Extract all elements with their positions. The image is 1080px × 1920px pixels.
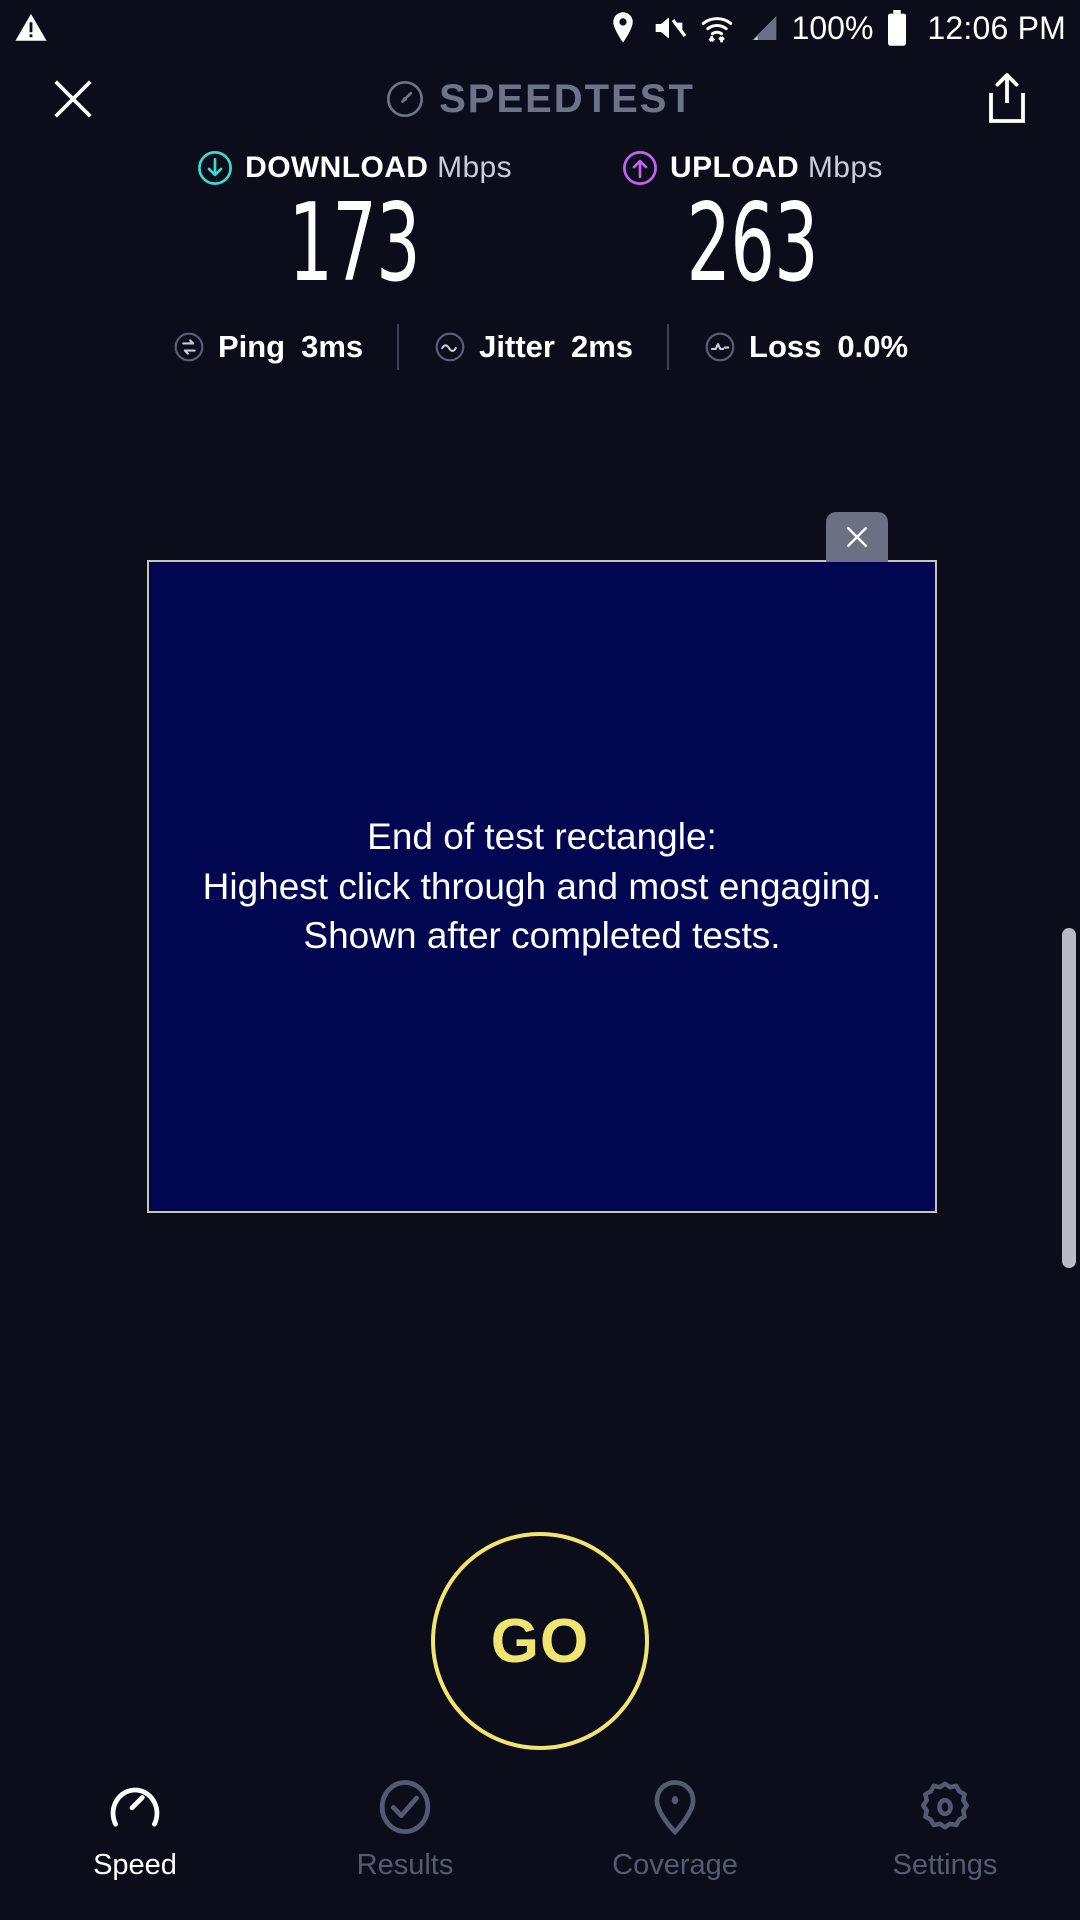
clock-label: 12:06 PM xyxy=(927,10,1066,47)
upload-label: UPLOAD Mbps xyxy=(670,151,883,185)
map-pin-icon xyxy=(647,1779,703,1835)
nav-item-coverage[interactable]: Coverage xyxy=(540,1779,810,1882)
nav-item-settings[interactable]: Settings xyxy=(810,1779,1080,1882)
loss-icon xyxy=(703,330,737,364)
battery-percent-label: 100% xyxy=(792,10,874,47)
download-label: DOWNLOAD Mbps xyxy=(245,151,512,185)
status-bar-left xyxy=(14,11,48,45)
download-unit: Mbps xyxy=(437,151,512,184)
share-icon xyxy=(983,73,1031,125)
download-result: DOWNLOAD Mbps 173 xyxy=(197,150,512,298)
upload-label-text: UPLOAD xyxy=(670,151,799,184)
bottom-navigation: Speed Results Coverage xyxy=(0,1765,1080,1920)
location-pin-icon xyxy=(608,11,638,45)
ad-close-button[interactable] xyxy=(826,512,888,562)
ad-container[interactable]: End of test rectangle: Highest click thr… xyxy=(147,560,937,1213)
metric-ping: Ping 3ms xyxy=(138,329,397,365)
close-button[interactable] xyxy=(40,66,106,132)
check-circle-icon xyxy=(377,1779,433,1835)
ad-line-3: Shown after completed tests. xyxy=(203,911,882,961)
warning-triangle-icon xyxy=(14,11,48,45)
status-bar-right: 100% 12:06 PM xyxy=(608,10,1066,47)
jitter-label: Jitter xyxy=(479,329,555,365)
brand: SPEEDTEST xyxy=(385,77,695,122)
volume-mute-icon xyxy=(651,12,687,44)
metric-loss: Loss 0.0% xyxy=(669,329,942,365)
app-header: SPEEDTEST xyxy=(0,56,1080,142)
brand-label: SPEEDTEST xyxy=(439,77,695,122)
advertisement: End of test rectangle: Highest click thr… xyxy=(147,560,937,1213)
speedtest-app-screen: 100% 12:06 PM xyxy=(0,0,1080,1920)
network-metrics: Ping 3ms Jitter 2ms xyxy=(0,324,1080,370)
ad-line-1: End of test rectangle: xyxy=(203,812,882,862)
ad-line-2: Highest click through and most engaging. xyxy=(203,862,882,912)
loss-value: 0.0% xyxy=(837,329,908,365)
metric-jitter: Jitter 2ms xyxy=(399,329,667,365)
scrollbar[interactable] xyxy=(1062,928,1076,1268)
close-icon xyxy=(47,73,99,125)
gear-icon xyxy=(917,1779,973,1835)
ping-icon xyxy=(172,330,206,364)
loss-label: Loss xyxy=(749,329,821,365)
jitter-value: 2ms xyxy=(571,329,633,365)
speed-results: DOWNLOAD Mbps 173 UPLOAD Mbps 263 xyxy=(0,140,1080,298)
nav-label-coverage: Coverage xyxy=(612,1849,738,1882)
upload-value: 263 xyxy=(687,190,818,298)
wifi-icon xyxy=(700,11,734,45)
nav-label-speed: Speed xyxy=(93,1849,177,1882)
ping-value: 3ms xyxy=(301,329,363,365)
speedometer-icon xyxy=(107,1779,163,1835)
nav-item-results[interactable]: Results xyxy=(270,1779,540,1882)
upload-arrow-icon xyxy=(622,150,658,186)
speedtest-gauge-icon xyxy=(385,79,425,119)
upload-result: UPLOAD Mbps 263 xyxy=(622,150,883,298)
download-label-text: DOWNLOAD xyxy=(245,151,428,184)
cellular-signal-icon xyxy=(747,12,779,44)
go-button-label: GO xyxy=(491,1606,589,1677)
nav-label-settings: Settings xyxy=(893,1849,998,1882)
download-value: 173 xyxy=(289,190,420,298)
close-icon xyxy=(842,522,872,552)
download-arrow-icon xyxy=(197,150,233,186)
status-bar: 100% 12:06 PM xyxy=(0,0,1080,56)
ad-text: End of test rectangle: Highest click thr… xyxy=(203,812,882,961)
ping-label: Ping xyxy=(218,329,285,365)
jitter-icon xyxy=(433,330,467,364)
upload-unit: Mbps xyxy=(808,151,883,184)
results-panel: DOWNLOAD Mbps 173 UPLOAD Mbps 263 xyxy=(0,140,1080,370)
go-button[interactable]: GO xyxy=(431,1532,649,1750)
share-button[interactable] xyxy=(974,66,1040,132)
nav-item-speed[interactable]: Speed xyxy=(0,1779,270,1882)
battery-full-icon xyxy=(886,10,908,46)
nav-label-results: Results xyxy=(357,1849,454,1882)
